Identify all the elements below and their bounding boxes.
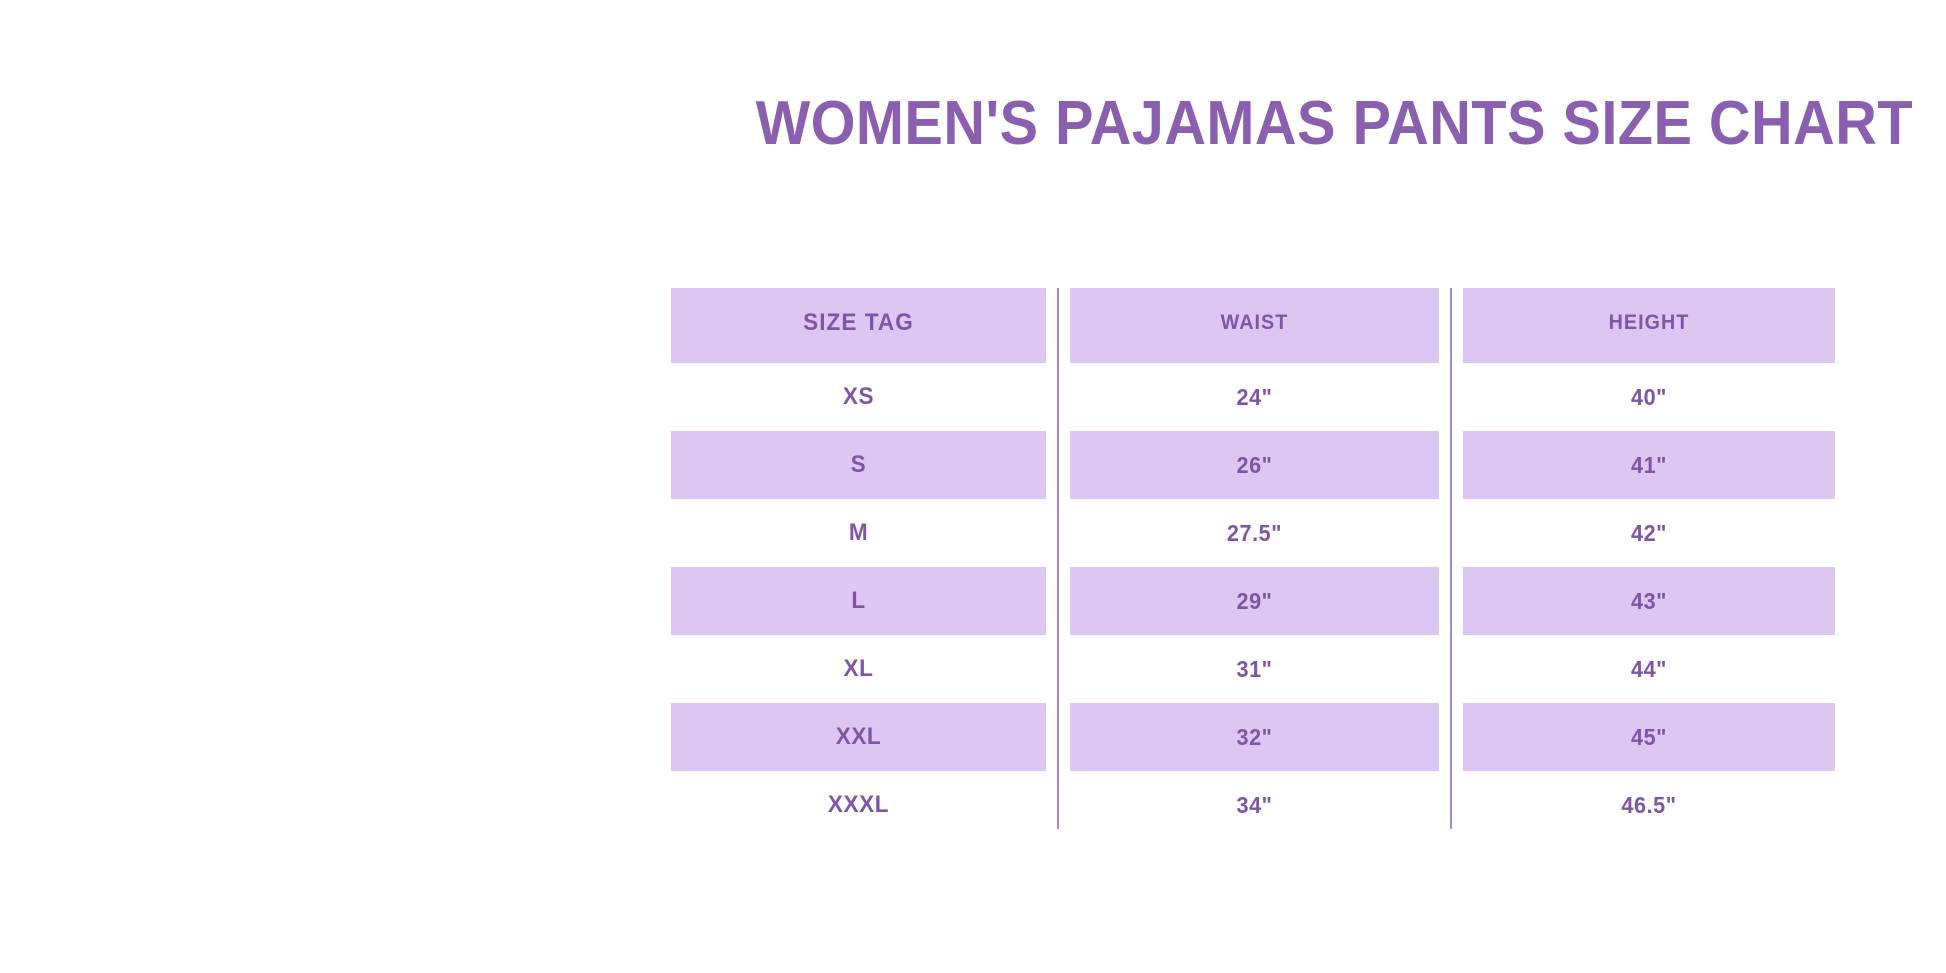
cell-waist: 26" bbox=[1070, 431, 1439, 499]
cell-height: 40" bbox=[1463, 363, 1835, 431]
table-header-row: SIZE TAG WAIST HEIGHT bbox=[659, 288, 1847, 363]
cell-height: 43" bbox=[1463, 567, 1835, 635]
cell-size-tag: XS bbox=[671, 363, 1046, 431]
cell-size-tag: M bbox=[671, 499, 1046, 567]
table-row: S 26" 41" bbox=[659, 431, 1847, 499]
table-row: XXL 32" 45" bbox=[659, 703, 1847, 771]
cell-height: 42" bbox=[1463, 499, 1835, 567]
size-chart-table: SIZE TAG WAIST HEIGHT XS 24" 40" S 26" 4… bbox=[659, 288, 1847, 839]
table-header: SIZE TAG WAIST HEIGHT bbox=[659, 288, 1847, 363]
column-header-size-tag: SIZE TAG bbox=[671, 288, 1046, 363]
cell-size-tag: XXXL bbox=[671, 771, 1046, 839]
cell-waist: 32" bbox=[1070, 703, 1439, 771]
column-header-waist: WAIST bbox=[1070, 288, 1439, 363]
table-body: XS 24" 40" S 26" 41" M 27.5" 42" L 29" 4… bbox=[659, 363, 1847, 839]
cell-size-tag: L bbox=[671, 567, 1046, 635]
cell-waist: 27.5" bbox=[1070, 499, 1439, 567]
cell-height: 45" bbox=[1463, 703, 1835, 771]
cell-waist: 31" bbox=[1070, 635, 1439, 703]
cell-waist: 34" bbox=[1070, 771, 1439, 839]
table-row: M 27.5" 42" bbox=[659, 499, 1847, 567]
cell-height: 46.5" bbox=[1463, 771, 1835, 839]
cell-height: 44" bbox=[1463, 635, 1835, 703]
cell-size-tag: XXL bbox=[671, 703, 1046, 771]
column-divider-first bbox=[1057, 288, 1059, 829]
cell-size-tag: XL bbox=[671, 635, 1046, 703]
page-title: WOMEN'S PAJAMAS PANTS SIZE CHART bbox=[134, 86, 1913, 162]
column-divider-second bbox=[1450, 288, 1452, 829]
cell-size-tag: S bbox=[671, 431, 1046, 499]
column-header-height: HEIGHT bbox=[1463, 288, 1835, 363]
table-row: XL 31" 44" bbox=[659, 635, 1847, 703]
table-row: L 29" 43" bbox=[659, 567, 1847, 635]
cell-waist: 24" bbox=[1070, 363, 1439, 431]
cell-height: 41" bbox=[1463, 431, 1835, 499]
cell-waist: 29" bbox=[1070, 567, 1439, 635]
table-row: XXXL 34" 46.5" bbox=[659, 771, 1847, 839]
table-row: XS 24" 40" bbox=[659, 363, 1847, 431]
size-chart-page: WOMEN'S PAJAMAS PANTS SIZE CHART SIZE TA… bbox=[0, 0, 1946, 973]
